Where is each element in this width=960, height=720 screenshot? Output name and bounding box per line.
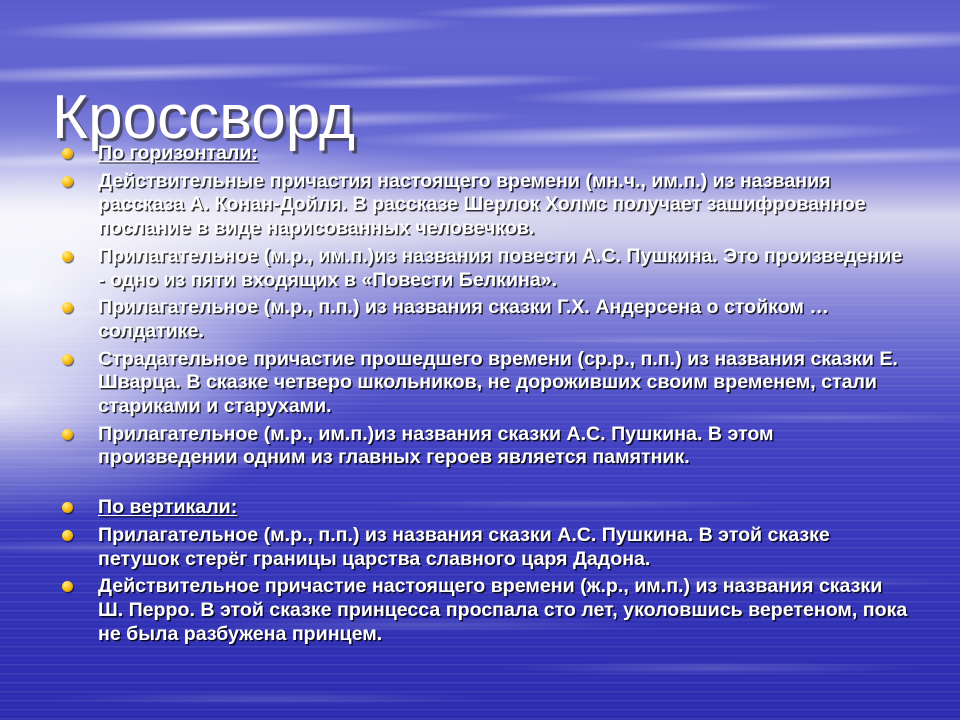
gold-ball-bullet-icon xyxy=(62,429,73,440)
list-item: Прилагательное (м.р., им.п.)из названия … xyxy=(56,245,912,292)
slide-title: Кроссворд xyxy=(52,86,355,149)
gold-ball-bullet-icon xyxy=(62,251,73,262)
list-section-heading: По вертикали: xyxy=(98,496,237,518)
list-item: Страдательное причастие прошедшего време… xyxy=(56,348,912,419)
presentation-slide: Кроссворд По горизонтали:Действительные … xyxy=(0,0,960,720)
list-item-label: Страдательное причастие прошедшего време… xyxy=(98,348,898,417)
list-item: По вертикали: xyxy=(56,496,912,520)
gold-ball-bullet-icon xyxy=(62,581,73,592)
list-item-label: Действительное причастие настоящего врем… xyxy=(98,575,907,644)
list-item: Действительные причастия настоящего врем… xyxy=(56,170,912,241)
list-item: Действительное причастие настоящего врем… xyxy=(56,575,912,646)
list-item-label: Действительные причастия настоящего врем… xyxy=(98,170,866,239)
gold-ball-bullet-icon xyxy=(62,502,73,513)
list-item-label: Прилагательное (м.р., им.п.)из названия … xyxy=(98,245,902,291)
list-item-label: Прилагательное (м.р., п.п.) из названия … xyxy=(98,524,830,570)
crossword-clue-list: По горизонтали:Действительные причастия … xyxy=(56,142,912,650)
gold-ball-bullet-icon xyxy=(62,530,73,541)
list-item: Прилагательное (м.р., им.п.)из названия … xyxy=(56,423,912,470)
list-item: Прилагательное (м.р., п.п.) из названия … xyxy=(56,524,912,571)
list-item-label: Прилагательное (м.р., п.п.) из названия … xyxy=(98,296,829,342)
gold-ball-bullet-icon xyxy=(62,176,73,187)
slide-content: Кроссворд По горизонтали:Действительные … xyxy=(0,0,960,720)
list-item: Прилагательное (м.р., п.п.) из названия … xyxy=(56,296,912,343)
list-section-heading: По горизонтали: xyxy=(98,142,258,164)
list-item-label: Прилагательное (м.р., им.п.)из названия … xyxy=(98,423,774,469)
list-item: По горизонтали: xyxy=(56,142,912,166)
gold-ball-bullet-icon xyxy=(62,354,73,365)
gold-ball-bullet-icon xyxy=(62,302,73,313)
gold-ball-bullet-icon xyxy=(62,148,73,159)
